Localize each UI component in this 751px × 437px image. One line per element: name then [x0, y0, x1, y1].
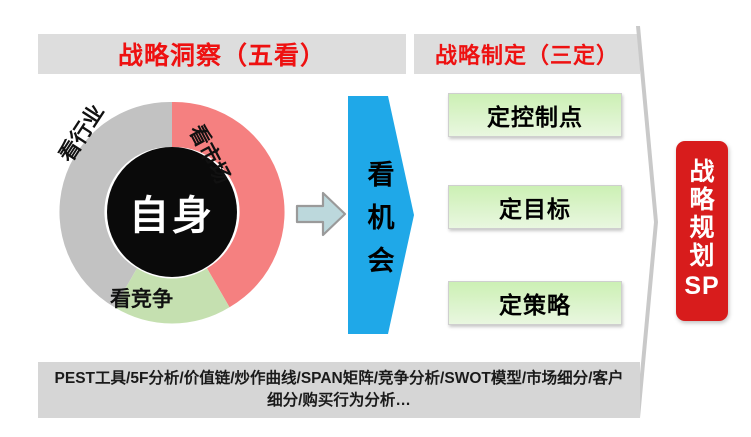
green-box-2-label: 定策略 [499, 286, 571, 320]
red-bar-char-3: 规 [689, 215, 714, 242]
header-strategic-formulation: 战略制定（三定） [414, 34, 640, 74]
red-bar-char-2: 略 [689, 187, 714, 214]
opportunity-arrow-shape [348, 96, 414, 334]
green-box-1-label: 定目标 [499, 190, 571, 224]
donut-label-competition: 看竞争 [110, 283, 173, 313]
tools-footer-text: PEST工具/5F分析/价值链/炒作曲线/SPAN矩阵/竞争分析/SWOT模型/… [52, 368, 626, 413]
brace-divider [634, 26, 658, 418]
five-looks-donut: 看行业 看市场 看竞争 自身 [57, 97, 287, 327]
red-bar-char-1: 战 [689, 159, 714, 186]
green-box-strategy[interactable]: 定策略 [448, 281, 622, 325]
diagram-canvas: 战略洞察（五看） 战略制定（三定） 看行业 看市场 看竞争 自身 看 机 会 [0, 0, 751, 437]
header-formulate-label: 战略制定（三定） [435, 38, 619, 70]
green-box-0-label: 定控制点 [487, 98, 583, 132]
green-box-goals[interactable]: 定目标 [448, 185, 622, 229]
strategy-plan-badge: 战 略 规 划 SP [676, 141, 728, 321]
right-arrow-icon [295, 188, 347, 240]
tools-footer-bar: PEST工具/5F分析/价值链/炒作曲线/SPAN矩阵/竞争分析/SWOT模型/… [38, 362, 640, 418]
header-insight-label: 战略洞察（五看） [118, 36, 326, 72]
green-box-control-points[interactable]: 定控制点 [448, 93, 622, 137]
red-bar-abbr: SP [684, 271, 719, 302]
red-bar-char-4: 划 [689, 243, 714, 270]
header-strategic-insight: 战略洞察（五看） [38, 34, 406, 74]
